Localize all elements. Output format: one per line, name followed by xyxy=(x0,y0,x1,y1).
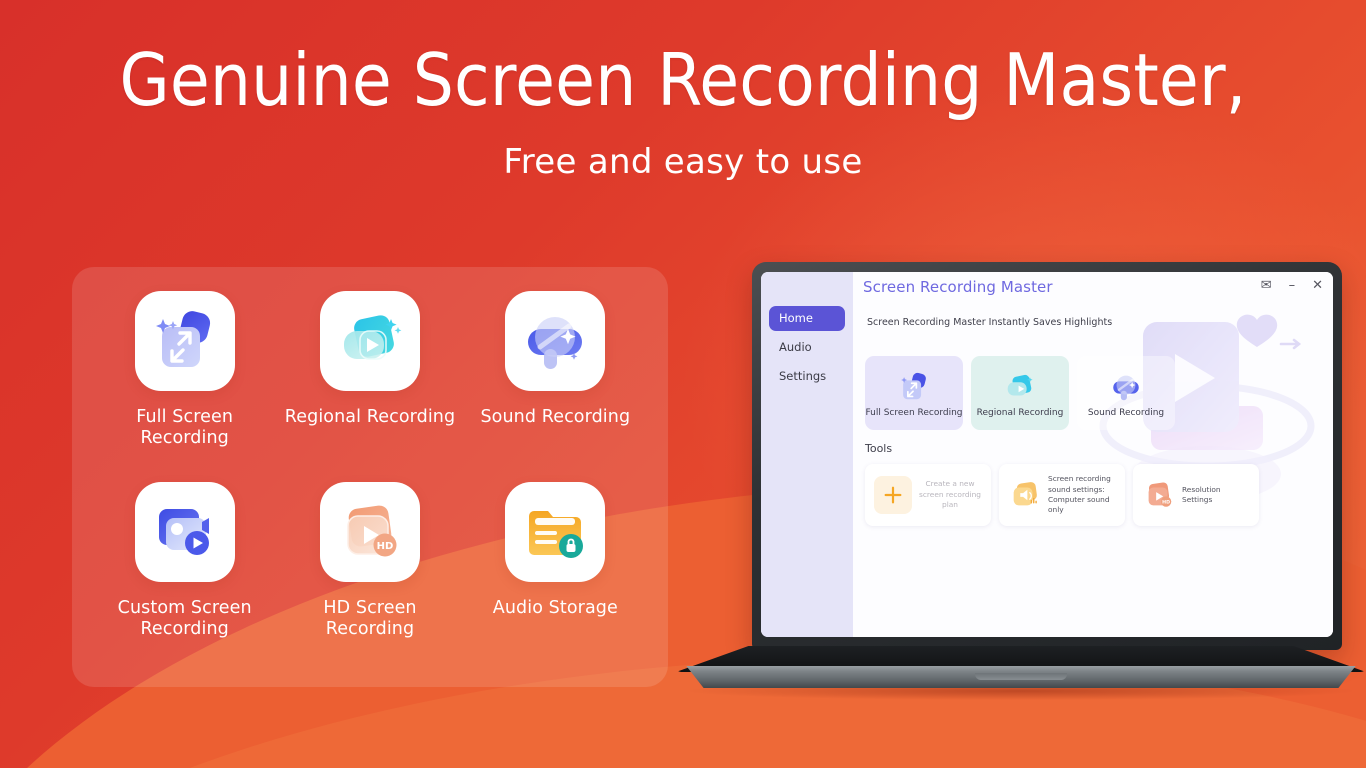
region-play-icon xyxy=(1003,370,1037,404)
svg-text:HD: HD xyxy=(1162,500,1170,506)
feature-label: HD Screen Recording xyxy=(277,598,462,641)
feature-label: Regional Recording xyxy=(285,407,455,428)
mail-icon[interactable]: ✉ xyxy=(1261,279,1272,292)
feature-tile xyxy=(320,291,420,391)
minimize-icon[interactable]: – xyxy=(1289,279,1296,292)
feature-tile xyxy=(135,482,235,582)
sidebar-item-home[interactable]: Home xyxy=(769,306,845,331)
feature-item-hd-screen-recording[interactable]: HD HD Screen Recording xyxy=(277,482,462,669)
sidebar-item-audio[interactable]: Audio xyxy=(769,335,845,360)
app-card-label: Regional Recording xyxy=(977,408,1064,419)
page-subtitle: Free and easy to use xyxy=(0,142,1366,182)
hd-play-icon: HD xyxy=(334,496,406,568)
app-card-full-screen-recording[interactable]: Full Screen Recording xyxy=(865,356,963,430)
hero-text-block: Genuine Screen Recording Master, Free an… xyxy=(0,42,1366,182)
feature-tile: HD xyxy=(320,482,420,582)
window-controls: ✉ – ✕ xyxy=(1261,279,1323,292)
app-card-sound-recording[interactable]: Sound Recording xyxy=(1077,356,1175,430)
sound-settings-icon xyxy=(1008,478,1042,512)
app-sidebar: Home Audio Settings xyxy=(761,272,853,637)
app-main-content: Screen Recording Master ✉ – ✕ Screen Rec… xyxy=(853,272,1333,637)
laptop-mockup: Home Audio Settings xyxy=(676,262,1366,694)
app-card-regional-recording[interactable]: Regional Recording xyxy=(971,356,1069,430)
feature-tile xyxy=(505,482,605,582)
tools-section-title: Tools xyxy=(865,442,892,455)
feature-item-regional-recording[interactable]: Regional Recording xyxy=(277,291,462,478)
feature-label: Full Screen Recording xyxy=(92,407,277,450)
feature-label: Custom Screen Recording xyxy=(92,598,277,641)
tool-card-label: Create a new screen recording plan xyxy=(918,479,982,510)
tool-card-label: Screen recording sound settings: Compute… xyxy=(1048,474,1116,515)
feature-panel: Full Screen Recording xyxy=(72,267,668,687)
hd-play-icon: HD xyxy=(1142,478,1176,512)
feature-item-sound-recording[interactable]: Sound Recording xyxy=(463,291,648,478)
laptop-notch xyxy=(975,673,1067,680)
speaker-sound-icon xyxy=(519,305,591,377)
laptop-lid: Home Audio Settings xyxy=(752,262,1342,650)
app-header-text: Screen Recording Master Instantly Saves … xyxy=(867,316,1112,329)
feature-item-audio-storage[interactable]: Audio Storage xyxy=(463,482,648,669)
feature-tile xyxy=(135,291,235,391)
plus-icon xyxy=(874,476,912,514)
custom-camera-play-icon xyxy=(149,496,221,568)
app-window: Home Audio Settings xyxy=(761,272,1333,637)
speaker-sound-icon xyxy=(1109,370,1143,404)
feature-item-full-screen-recording[interactable]: Full Screen Recording xyxy=(92,291,277,478)
region-play-icon xyxy=(334,305,406,377)
app-card-label: Full Screen Recording xyxy=(865,408,962,419)
sidebar-item-settings[interactable]: Settings xyxy=(769,364,845,389)
folder-lock-icon xyxy=(519,496,591,568)
app-card-row: Full Screen Recording Regional Recording xyxy=(865,356,1175,430)
feature-tile xyxy=(505,291,605,391)
feature-label: Sound Recording xyxy=(480,407,630,428)
tools-row: Create a new screen recording plan xyxy=(865,464,1259,526)
feature-label: Audio Storage xyxy=(493,598,618,619)
feature-item-custom-screen-recording[interactable]: Custom Screen Recording xyxy=(92,482,277,669)
svg-text:HD: HD xyxy=(377,541,394,552)
fullscreen-expand-icon xyxy=(149,305,221,377)
app-card-label: Sound Recording xyxy=(1088,408,1164,419)
app-title: Screen Recording Master xyxy=(863,278,1053,296)
tool-card-create-plan[interactable]: Create a new screen recording plan xyxy=(865,464,991,526)
page-title: Genuine Screen Recording Master, xyxy=(0,42,1366,120)
tool-card-sound-settings[interactable]: Screen recording sound settings: Compute… xyxy=(999,464,1125,526)
feature-grid: Full Screen Recording xyxy=(92,291,648,669)
tool-card-label: Resolution Settings xyxy=(1182,485,1250,506)
tool-card-resolution-settings[interactable]: HD Resolution Settings xyxy=(1133,464,1259,526)
close-icon[interactable]: ✕ xyxy=(1312,279,1323,292)
fullscreen-expand-icon xyxy=(897,370,931,404)
